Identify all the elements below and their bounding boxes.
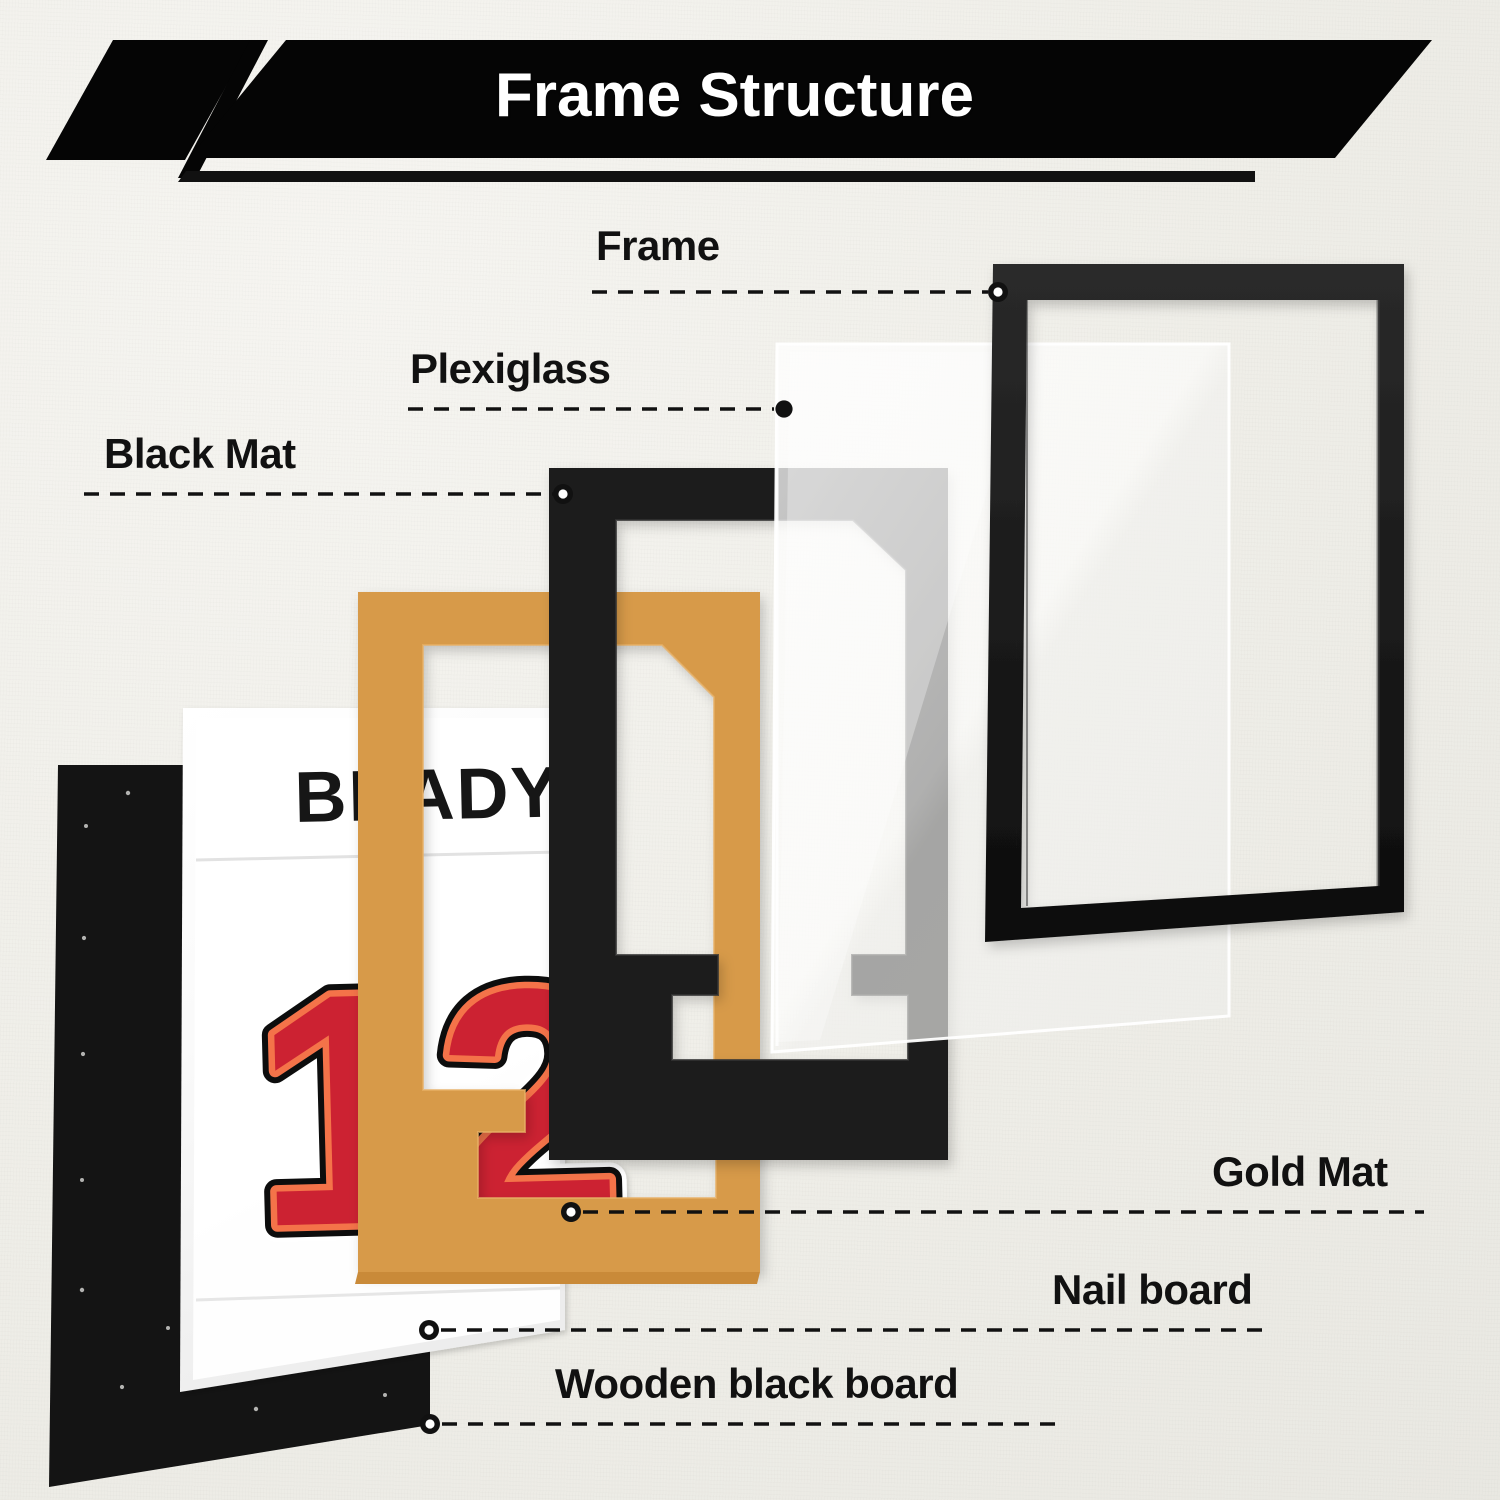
callout-lines (0, 0, 1500, 1500)
label-frame: Frame (596, 222, 720, 270)
leader-black-mat (84, 484, 573, 504)
leader-gold-mat (561, 1202, 1424, 1222)
leader-nail-board (419, 1320, 1272, 1340)
leader-plexiglass (408, 400, 793, 417)
leader-wooden-board (420, 1414, 1064, 1434)
leader-frame (592, 282, 1008, 302)
label-gold-mat: Gold Mat (1212, 1148, 1388, 1196)
label-plexiglass: Plexiglass (410, 345, 610, 393)
label-black-mat: Black Mat (104, 430, 296, 478)
label-wooden-board: Wooden black board (555, 1360, 958, 1408)
label-nail-board: Nail board (1052, 1266, 1252, 1314)
exploded-diagram-stage: Frame Structure (0, 0, 1500, 1500)
